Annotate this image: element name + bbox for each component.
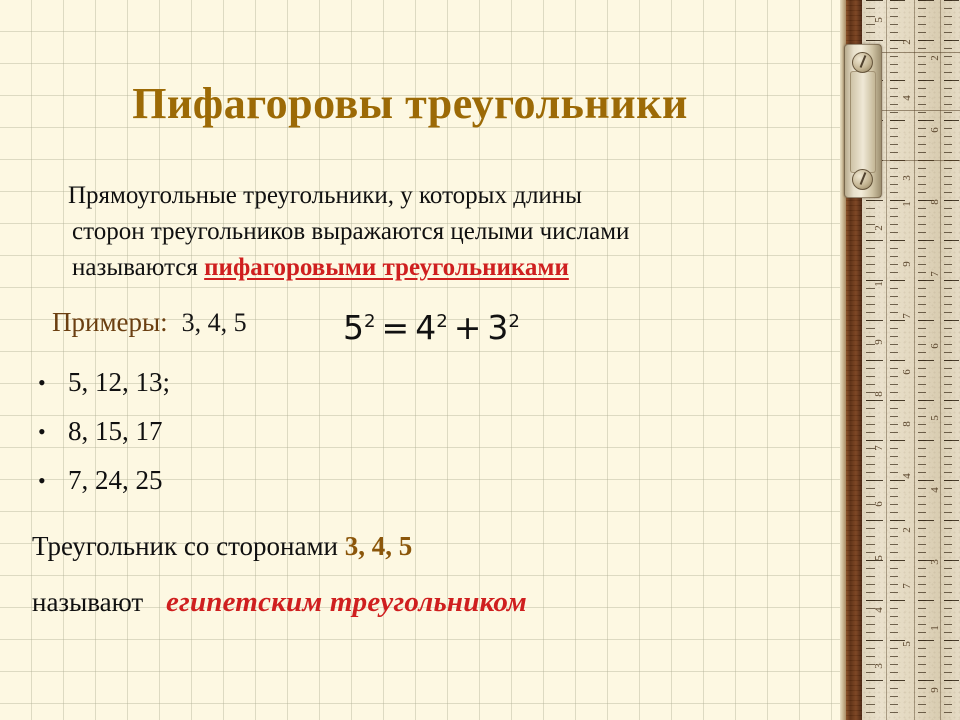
ruler-scale-number: 1 — [901, 201, 913, 207]
screw-icon — [852, 52, 873, 73]
page-title: Пифагоровы треугольники — [0, 78, 820, 130]
definition-line-1: Прямоугольные треугольники, у которых дл… — [68, 182, 582, 209]
closing-triple-345: 3, 4, 5 — [345, 531, 413, 561]
ruler-scale-number: 6 — [929, 127, 941, 133]
ruler-scale-number: 6 — [901, 369, 913, 375]
equation-base-mid: 4 — [415, 308, 436, 347]
ruler-scale-number: 8 — [929, 199, 941, 205]
ruler-brass-hinge — [844, 44, 882, 198]
ruler-scale-number: 2 — [901, 527, 913, 533]
list-item: 5, 12, 13; — [28, 358, 170, 407]
definition-line-3: называются пифагоровыми треугольниками — [60, 250, 826, 286]
equation-base-right: 3 — [487, 308, 508, 347]
ruler-scale-separator — [940, 0, 941, 720]
ruler-scale-number: 4 — [901, 473, 913, 479]
ruler-scale-number: 2 — [929, 55, 941, 61]
slide-canvas: Пифагоровы треугольники Прямоугольные тр… — [0, 0, 960, 720]
ruler-scale-number: 2 — [873, 225, 885, 231]
ruler-ticks-major — [944, 0, 959, 720]
equation-pythagorean: 52=42+32 — [343, 306, 520, 350]
closing-line-2: называют египетским треугольником — [32, 574, 822, 630]
ruler-scale-number: 5 — [873, 17, 885, 23]
closing-line-2-prefix: называют — [32, 587, 150, 617]
definition-line-3-prefix: называются — [72, 254, 204, 281]
ruler-scale-separator — [886, 0, 887, 720]
equation-equals: = — [376, 308, 416, 347]
ruler-scale-number: 4 — [929, 487, 941, 493]
ruler-scale-number: 1 — [873, 281, 885, 287]
screw-icon — [852, 169, 873, 190]
ruler-scale-number: 7 — [929, 271, 941, 277]
definition-line-2: сторон треугольников выражаются целыми ч… — [60, 214, 826, 250]
ruler-scale-number: 8 — [901, 421, 913, 427]
ruler-scale-number: 7 — [873, 445, 885, 451]
ruler-scale-number: 2 — [901, 39, 913, 45]
ruler-scale-number: 3 — [873, 663, 885, 669]
equation-plus: + — [448, 308, 488, 347]
closing-line-1: Треугольник со сторонами 3, 4, 5 — [32, 518, 822, 574]
ruler-scale-number: 3 — [929, 559, 941, 565]
examples-row: Примеры: 3, 4, 5 — [52, 305, 247, 340]
ruler-scale-number: 5 — [901, 641, 913, 647]
ruler-scale-number: 4 — [873, 607, 885, 613]
equation-exp-mid: 2 — [436, 311, 448, 332]
ruler-scale-number: 7 — [901, 583, 913, 589]
ruler-scale-number: 6 — [929, 343, 941, 349]
examples-first-triple: 3, 4, 5 — [182, 306, 247, 340]
ruler-scale-number: 4 — [901, 95, 913, 101]
wooden-ruler-decoration: 5 4 3 2 1 9 8 7 6 5 4 3 2 4 3 1 9 7 6 8 … — [840, 0, 960, 720]
ruler-scale-number: 6 — [873, 501, 885, 507]
ruler-scale-number: 7 — [901, 313, 913, 319]
ruler-hinge-plate — [850, 71, 876, 173]
equation-exp-left: 2 — [364, 311, 376, 332]
ruler-ticks-major — [890, 0, 905, 720]
ruler-scale-number: 9 — [929, 687, 941, 693]
keyword-pythagorean-triangles: пифагоровыми треугольниками — [204, 254, 569, 281]
ruler-scale-separator — [914, 0, 915, 720]
list-item: 7, 24, 25 — [28, 456, 170, 505]
closing-line-1-prefix: Треугольник со сторонами — [32, 531, 345, 561]
equation-base-left: 5 — [343, 308, 364, 347]
equation-exp-right: 2 — [508, 311, 520, 332]
closing-block: Треугольник со сторонами 3, 4, 5 называю… — [32, 518, 822, 630]
list-item: 8, 15, 17 — [28, 407, 170, 456]
definition-block: Прямоугольные треугольники, у которых дл… — [36, 178, 826, 286]
ruler-scale-number: 8 — [873, 391, 885, 397]
ruler-scale-number: 3 — [901, 175, 913, 181]
definition-paragraph: Прямоугольные треугольники, у которых дл… — [36, 178, 826, 286]
pythagorean-triples-list: 5, 12, 13; 8, 15, 17 7, 24, 25 — [28, 358, 170, 505]
ruler-ticks-major — [918, 0, 934, 720]
keyword-egyptian-triangle: египетским треугольником — [166, 586, 527, 618]
ruler-scale-number: 1 — [929, 625, 941, 631]
ruler-scale-number: 9 — [873, 339, 885, 345]
ruler-scale-number: 5 — [873, 555, 885, 561]
ruler-scale-number: 9 — [901, 261, 913, 267]
examples-label: Примеры: — [52, 305, 168, 339]
ruler-scale-number: 5 — [929, 415, 941, 421]
